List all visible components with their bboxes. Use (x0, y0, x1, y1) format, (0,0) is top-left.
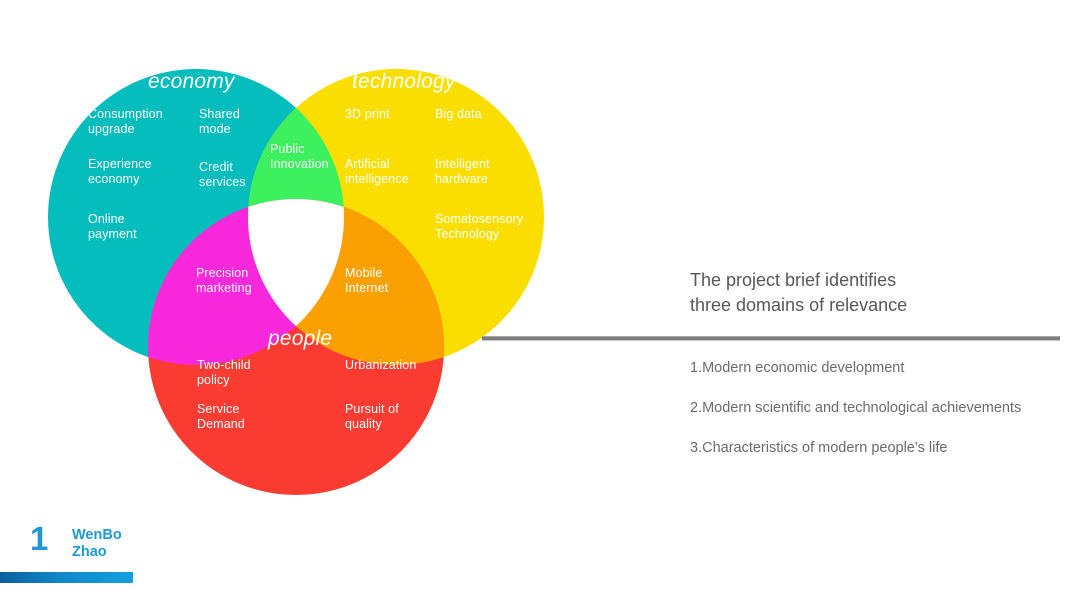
venn-label-consumption-upgrade: Consumption upgrade (88, 107, 163, 137)
venn-label-two-child-policy: Two-child policy (197, 358, 251, 388)
venn-label-precision-marketing: Precision marketing (196, 266, 252, 296)
venn-label-pursuit-of-quality: Pursuit of quality (345, 402, 399, 432)
venn-label-big-data: Big data (435, 107, 482, 122)
panel-heading: The project brief identifies three domai… (690, 268, 1062, 318)
page-number: 1 (30, 522, 48, 555)
venn-label-online-payment: Online payment (88, 212, 137, 242)
venn-title-technology: technology (352, 70, 456, 94)
list-item: 2.Modern scientific and technological ac… (690, 399, 1062, 417)
author-name: WenBo Zhao (72, 527, 122, 561)
list-item: 3.Characteristics of modern people's lif… (690, 439, 1062, 457)
venn-title-people: people (268, 327, 332, 351)
footer-accent-bar (0, 572, 133, 583)
panel-divider (482, 336, 1060, 341)
right-text-panel: The project brief identifies three domai… (482, 268, 1062, 479)
venn-label-public-innovation: Public Innovation (270, 142, 329, 172)
venn-label-service-demand: Service Demand (197, 402, 245, 432)
venn-label-urbanization: Urbanization (345, 358, 416, 373)
venn-label-experience-economy: Experience economy (88, 157, 152, 187)
venn-title-economy: economy (148, 70, 235, 94)
venn-label-3d-print: 3D print (345, 107, 390, 122)
venn-label-credit-services: Credit services (199, 160, 246, 190)
venn-label-mobile-internet: Mobile Internet (345, 266, 388, 296)
list-item: 1.Modern economic development (690, 359, 1062, 377)
venn-label-intelligent-hardware: Intelligent hardware (435, 157, 490, 187)
panel-list: 1.Modern economic development 2.Modern s… (690, 359, 1062, 457)
venn-label-artificial-intelligence: Artificial intelligence (345, 157, 409, 187)
footer: 1 WenBo Zhao (0, 510, 300, 600)
venn-label-somatosensory-technology: Somatosensory Technology (435, 212, 523, 242)
venn-label-shared-mode: Shared mode (199, 107, 240, 137)
